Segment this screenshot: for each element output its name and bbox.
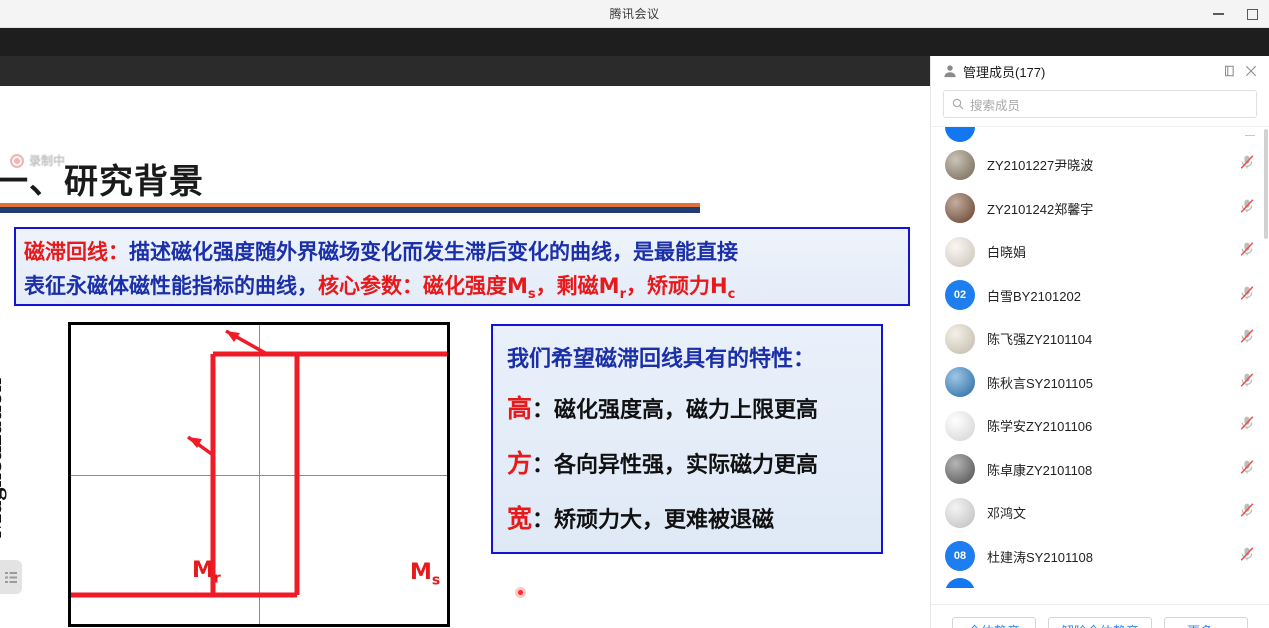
mute-toggle[interactable] — [1239, 328, 1255, 349]
participants-panel-title: 管理成员(177) — [963, 62, 1221, 81]
more-button[interactable]: 更多 ▼ — [1164, 617, 1248, 628]
hysteresis-loop-curve — [71, 325, 447, 624]
more-label: 更多 — [1187, 621, 1213, 628]
participant-name: 陈飞强ZY2101104 — [987, 329, 1227, 348]
mute-toggle[interactable] — [1239, 285, 1255, 306]
list-scrollbar[interactable] — [1264, 129, 1268, 239]
unmute-all-button[interactable]: 解除全体静音 — [1048, 617, 1152, 628]
avatar — [945, 237, 975, 267]
search-container: 搜索成员 — [931, 86, 1269, 126]
features-heading: 我们希望磁滞回线具有的特性： — [507, 338, 881, 382]
minimize-button[interactable] — [1201, 0, 1235, 28]
search-input[interactable]: 搜索成员 — [943, 90, 1257, 118]
chart-y-axis-label: Magnetization — [0, 358, 8, 558]
mute-toggle[interactable] — [1239, 198, 1255, 219]
recording-label: 录制中 — [29, 152, 65, 169]
unmute-all-label: 解除全体静音 — [1061, 621, 1139, 628]
hysteresis-chart: Magnetization Magnetic field — [10, 318, 470, 618]
mic-muted-icon — [1239, 459, 1255, 475]
participant-row[interactable]: 邓鸿文 — [931, 491, 1269, 535]
list-item-partial-top[interactable] — [931, 127, 1269, 143]
participant-name: 杜建涛SY2101108 — [987, 547, 1227, 566]
participant-row[interactable]: 陈秋言SY2101105 — [931, 361, 1269, 405]
avatar: 08 — [945, 541, 975, 571]
maximize-icon — [1247, 9, 1258, 20]
mute-toggle[interactable] — [1239, 372, 1255, 393]
definition-sub-c: c — [728, 287, 736, 302]
definition-sub-s: s — [528, 287, 536, 302]
participant-name: ZY2101227尹晓波 — [987, 155, 1227, 174]
participant-row[interactable]: ZY2101242郑馨宇 — [931, 187, 1269, 231]
participant-name: 白晓娟 — [987, 242, 1227, 261]
feature-text-3: 矫顽力大，更难被退磁 — [554, 508, 774, 533]
popout-button[interactable] — [1221, 61, 1241, 81]
mic-muted-icon — [1239, 328, 1255, 344]
avatar — [945, 454, 975, 484]
list-item-partial-bottom[interactable] — [931, 578, 1269, 588]
mute-toggle[interactable] — [1239, 459, 1255, 480]
close-icon — [1245, 65, 1257, 77]
feature-text-2: 各向异性强，实际磁力更高 — [554, 453, 818, 478]
feature-text-1: 磁化强度高，磁力上限更高 — [554, 398, 818, 423]
title-rule-blue — [0, 207, 700, 213]
partial-divider — [1245, 135, 1255, 136]
feature-sep-3: ： — [532, 508, 554, 533]
avatar — [945, 193, 975, 223]
participant-row[interactable]: 02白雪BY2101202 — [931, 274, 1269, 318]
laser-pointer-dot — [515, 587, 526, 598]
mute-toggle[interactable] — [1239, 546, 1255, 567]
participants-panel: 管理成员(177) — [930, 56, 1269, 628]
app-root: 腾讯会议 一、研究背景 录制中 — [0, 0, 1269, 628]
definition-text-1: 描述磁化强度随外界磁场变化而发生滞后变化的曲线，是最能直接 — [129, 240, 738, 264]
shared-screen-area[interactable]: 一、研究背景 录制中 磁滞回线：描述磁化强度随外界磁场变化而发生滞后变化的曲线，… — [0, 56, 930, 628]
chart-annotation-ms: Ms — [410, 560, 440, 588]
share-top-band — [0, 56, 930, 86]
feature-key-1: 高 — [507, 394, 532, 423]
mic-muted-icon — [1239, 198, 1255, 214]
participant-name: 邓鸿文 — [987, 503, 1227, 522]
window-title-bar: 腾讯会议 — [0, 0, 1269, 28]
participant-name: 陈学安ZY2101106 — [987, 416, 1227, 435]
participants-panel-header: 管理成员(177) — [931, 56, 1269, 86]
chart-annotation-mr: Mr — [192, 558, 221, 586]
chart-annotation-ms-sub: s — [432, 572, 440, 588]
list-icon — [5, 572, 17, 583]
participant-name: 陈卓康ZY2101108 — [987, 460, 1227, 479]
definition-line-1: 磁滞回线：描述磁化强度随外界磁场变化而发生滞后变化的曲线，是最能直接 — [24, 235, 900, 269]
mic-muted-icon — [1239, 502, 1255, 518]
mic-muted-icon — [1239, 372, 1255, 388]
mic-muted-icon — [1239, 241, 1255, 257]
mute-all-button[interactable]: 全体静音 — [952, 617, 1036, 628]
presentation-slide: 一、研究背景 录制中 磁滞回线：描述磁化强度随外界磁场变化而发生滞后变化的曲线，… — [0, 86, 930, 628]
avatar — [945, 411, 975, 441]
recording-dot-icon — [10, 154, 24, 168]
participant-rows: ZY2101227尹晓波ZY2101242郑馨宇白晓娟02白雪BY2101202… — [931, 143, 1269, 578]
avatar — [945, 324, 975, 354]
person-icon — [943, 64, 957, 78]
definition-params-mid2: ，矫顽力H — [626, 274, 728, 298]
mic-muted-icon — [1239, 285, 1255, 301]
definition-params-prefix: 核心参数：磁化强度M — [318, 274, 528, 298]
participant-row[interactable]: 陈卓康ZY2101108 — [931, 448, 1269, 492]
mic-muted-icon — [1239, 154, 1255, 170]
popout-icon — [1225, 65, 1237, 77]
maximize-button[interactable] — [1235, 0, 1269, 28]
feature-row-3: 宽：矫顽力大，更难被退磁 — [507, 492, 881, 547]
participant-name: 陈秋言SY2101105 — [987, 373, 1227, 392]
mute-toggle[interactable] — [1239, 154, 1255, 175]
mic-muted-icon — [1239, 546, 1255, 562]
avatar — [945, 498, 975, 528]
mute-toggle[interactable] — [1239, 241, 1255, 262]
mute-toggle[interactable] — [1239, 415, 1255, 436]
participants-list[interactable]: ZY2101227尹晓波ZY2101242郑馨宇白晓娟02白雪BY2101202… — [931, 126, 1269, 604]
feature-row-1: 高：磁化强度高，磁力上限更高 — [507, 382, 881, 437]
participant-row[interactable]: 陈飞强ZY2101104 — [931, 317, 1269, 361]
participants-panel-footer: 全体静音 解除全体静音 更多 ▼ — [931, 604, 1269, 628]
feature-key-3: 宽 — [507, 504, 532, 533]
definition-text-2: 表征永磁体磁性能指标的曲线， — [24, 274, 318, 298]
avatar — [945, 367, 975, 397]
minimize-icon — [1213, 13, 1224, 15]
search-placeholder: 搜索成员 — [970, 95, 1020, 114]
participant-row[interactable]: 白晓娟 — [931, 230, 1269, 274]
features-box: 我们希望磁滞回线具有的特性： 高：磁化强度高，磁力上限更高 方：各向异性强，实际… — [491, 324, 883, 554]
close-panel-button[interactable] — [1241, 61, 1261, 81]
recording-indicator: 录制中 — [10, 152, 65, 169]
feature-row-2: 方：各向异性强，实际磁力更高 — [507, 437, 881, 492]
avatar — [945, 127, 975, 142]
mute-all-label: 全体静音 — [968, 621, 1020, 628]
avatar — [945, 150, 975, 180]
participant-row[interactable]: 08杜建涛SY2101108 — [931, 535, 1269, 579]
definition-box: 磁滞回线：描述磁化强度随外界磁场变化而发生滞后变化的曲线，是最能直接 表征永磁体… — [14, 227, 910, 306]
participant-row[interactable]: 陈学安ZY2101106 — [931, 404, 1269, 448]
definition-term: 磁滞回线： — [24, 240, 129, 264]
window-title: 腾讯会议 — [609, 5, 659, 22]
participant-name: 白雪BY2101202 — [987, 286, 1227, 305]
search-icon — [952, 98, 964, 110]
meeting-body: 一、研究背景 录制中 磁滞回线：描述磁化强度随外界磁场变化而发生滞后变化的曲线，… — [0, 28, 1269, 628]
avatar — [945, 578, 975, 588]
slide-outline-icon[interactable] — [0, 560, 22, 594]
avatar: 02 — [945, 280, 975, 310]
window-controls — [1201, 0, 1269, 28]
participant-name: ZY2101242郑馨宇 — [987, 199, 1227, 218]
chart-annotation-mr-sub: r — [214, 570, 221, 586]
feature-key-2: 方 — [507, 449, 532, 478]
feature-sep-2: ： — [532, 453, 554, 478]
mute-toggle[interactable] — [1239, 502, 1255, 523]
definition-line-2: 表征永磁体磁性能指标的曲线，核心参数：磁化强度Ms，剩磁Mr，矫顽力Hc — [24, 269, 900, 312]
chart-plot-frame — [68, 322, 450, 627]
mic-muted-icon — [1239, 415, 1255, 431]
participant-row[interactable]: ZY2101227尹晓波 — [931, 143, 1269, 187]
feature-sep-1: ： — [532, 398, 554, 423]
definition-params-mid: ，剩磁M — [536, 274, 620, 298]
